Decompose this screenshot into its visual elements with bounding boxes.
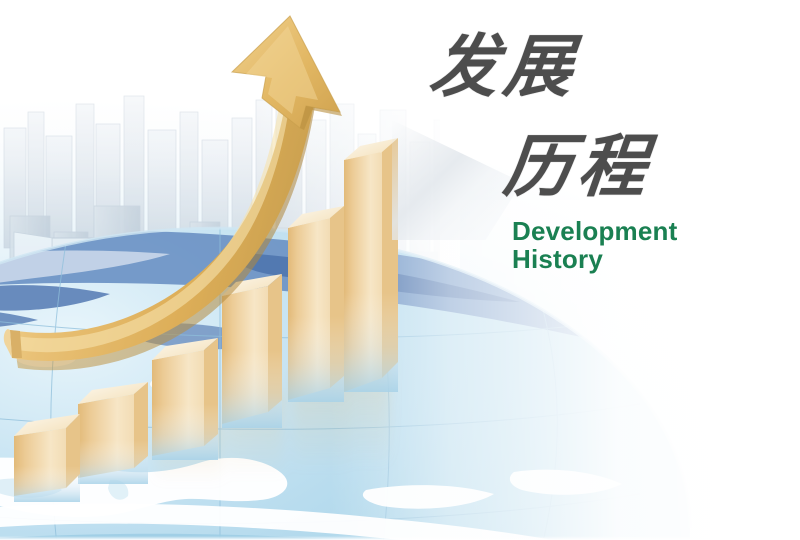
development-history-banner: 发展 历程 Development History [0,0,800,540]
bar-1 [14,414,80,502]
chinese-title-line-2: 历程 [500,134,655,202]
chinese-title-line-1: 发展 [426,34,581,102]
title-block: 发展 历程 Development History [424,18,754,286]
english-title-line-1: Development [512,216,677,247]
bar-3 [152,338,218,460]
bar-4 [222,274,282,428]
bar-2 [78,382,148,484]
english-title-line-2: History [512,244,603,275]
bar-6 [344,138,398,392]
bar-5 [288,206,344,402]
